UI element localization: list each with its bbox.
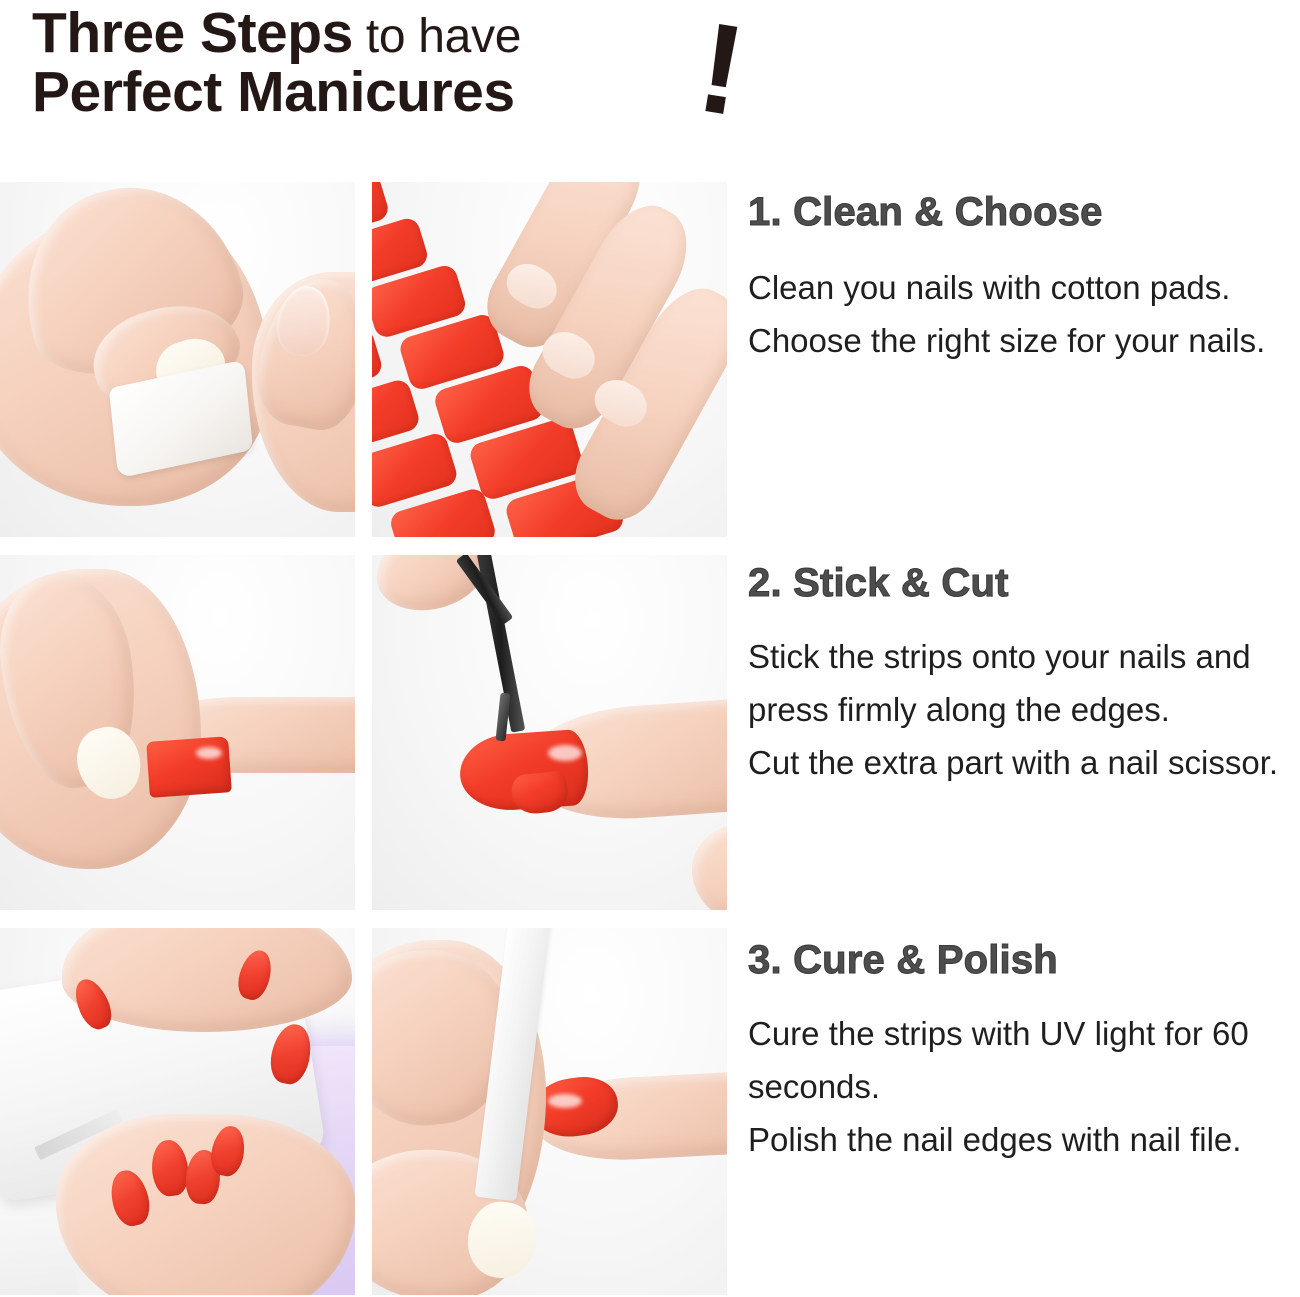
photo-row-step-1: [0, 182, 728, 537]
photo-polishing-nail-edge-with-file: [372, 928, 727, 1295]
photo-row-step-2: [0, 555, 728, 910]
applied-red-strip: [146, 736, 232, 798]
step-3-heading: 3. Cure & Polish: [748, 928, 1288, 983]
step-2-body: Stick the strips onto your nails and pre…: [748, 606, 1288, 789]
photo-scene: [0, 928, 355, 1295]
photo-sticking-strip-on-nail: [0, 555, 355, 910]
photo-scene: [372, 928, 727, 1295]
title-line-1: Three Steps to have: [32, 4, 792, 63]
photo-scene: [0, 182, 355, 537]
photo-scene: [372, 182, 727, 537]
photo-scene: [0, 555, 355, 910]
curing-hand-shape: [56, 1114, 355, 1295]
photo-scene: [372, 555, 727, 910]
photo-red-nail-strip-sheet: [372, 182, 727, 537]
step-1-body: Clean you nails with cotton pads.Choose …: [748, 235, 1288, 367]
title-line-2: Perfect Manicures: [32, 63, 792, 122]
gloss-highlight: [196, 747, 222, 759]
step-3-body: Cure the strips with UV light for 60 sec…: [748, 983, 1288, 1166]
page-title: Three Steps to have Perfect Manicures: [32, 4, 792, 123]
step-1: 1. Clean & Choose Clean you nails with c…: [748, 182, 1288, 555]
step-1-heading: 1. Clean & Choose: [748, 182, 1288, 235]
title-light-1: to have: [353, 10, 521, 63]
photo-curing-nails-in-uv-lamp: [0, 928, 355, 1295]
photo-cutting-extra-strip-with-scissor: [372, 555, 727, 910]
step-3: 3. Cure & Polish Cure the strips with UV…: [748, 928, 1288, 1288]
step-2-heading: 2. Stick & Cut: [748, 555, 1288, 606]
photo-row-step-3: [0, 928, 728, 1295]
gloss-highlight: [548, 1094, 582, 1108]
title-strong-1: Three Steps: [32, 1, 353, 65]
supporting-thumb-shape: [692, 823, 727, 910]
title-strong-2: Perfect Manicures: [32, 60, 515, 124]
gloss-highlight: [548, 745, 582, 761]
step-2: 2. Stick & Cut Stick the strips onto you…: [748, 555, 1288, 928]
photo-grid: [0, 182, 728, 1295]
photo-cleaning-nail-with-cotton-pad: [0, 182, 355, 537]
steps-text-column: 1. Clean & Choose Clean you nails with c…: [748, 182, 1288, 1288]
